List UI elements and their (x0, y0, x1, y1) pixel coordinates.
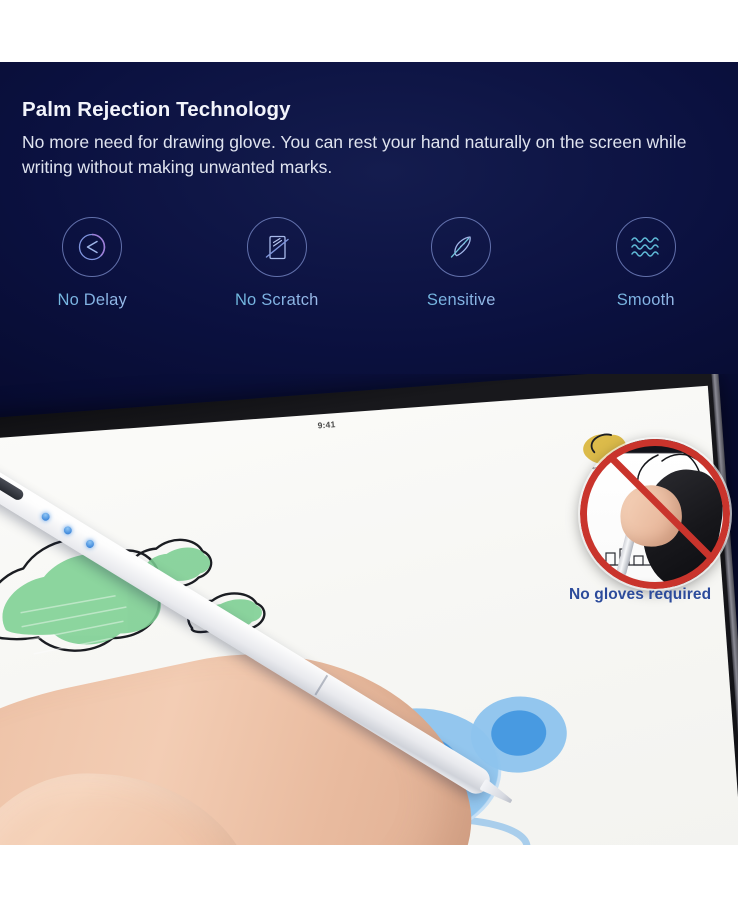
stylus-seam (314, 675, 328, 696)
product-photo: 9:41 (0, 374, 738, 845)
hero-panel: Palm Rejection Technology No more need f… (0, 62, 738, 845)
stylus-led-indicator (84, 538, 95, 549)
stylus-cap (0, 469, 25, 502)
top-white-margin (0, 0, 738, 62)
prohibition-sign-icon (580, 439, 730, 589)
page-title: Palm Rejection Technology (22, 98, 712, 123)
no-gloves-inset (580, 439, 730, 589)
page-subtitle: No more need for drawing glove. You can … (22, 130, 712, 180)
no-gloves-caption: No gloves required (569, 586, 711, 604)
feature-item-smooth: Smooth (554, 217, 738, 310)
headline-block: Palm Rejection Technology No more need f… (22, 98, 712, 180)
feature-item-sensitive: Sensitive (369, 217, 554, 310)
stylus-tip (479, 778, 515, 807)
feature-item-no-scratch: No Scratch (185, 217, 370, 310)
speed-gauge-icon (62, 217, 122, 277)
no-scratch-screen-icon (247, 217, 307, 277)
feature-item-no-delay: No Delay (0, 217, 185, 310)
product-feature-page: Palm Rejection Technology No more need f… (0, 0, 738, 907)
feather-quill-icon (431, 217, 491, 277)
feature-icon-row: No Delay No Scratch (0, 217, 738, 310)
stylus-pen (0, 462, 495, 799)
feature-label: No Delay (0, 291, 185, 310)
stylus-led-indicator (62, 525, 73, 536)
bottom-white-margin (0, 845, 738, 907)
feature-label: No Scratch (185, 291, 370, 310)
wavy-lines-icon (616, 217, 676, 277)
feature-label: Smooth (554, 291, 738, 310)
feature-label: Sensitive (369, 291, 554, 310)
stylus-led-indicator (40, 511, 51, 522)
